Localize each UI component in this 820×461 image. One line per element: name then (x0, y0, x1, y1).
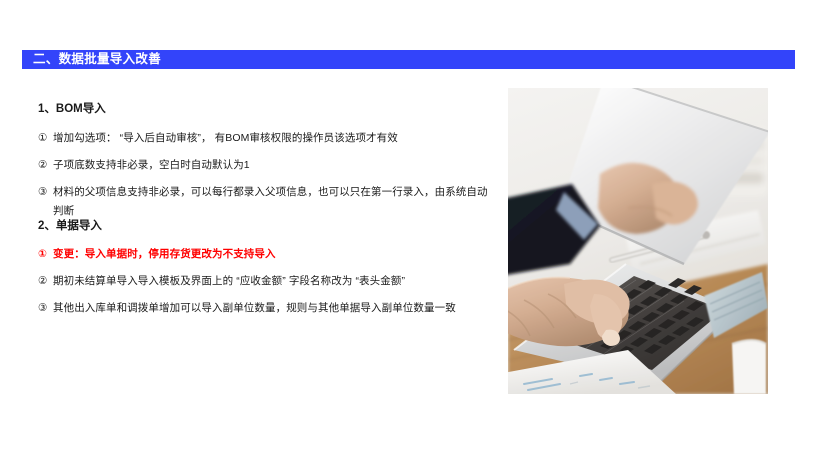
bullet-text: 材料的父项信息支持非必录，可以每行都录入父项信息，也可以只在第一行录入，由系统自… (53, 183, 493, 221)
bullet-marker-icon: ① (38, 245, 53, 264)
bullet-marker-icon: ① (38, 129, 53, 148)
bullet-text: 期初未结算单导入导入模板及界面上的 “应收金额” 字段名称改为 “表头金额” (53, 272, 493, 291)
slide-body-text-column: 1、BOM导入 ① 增加勾选项： “导入后自动审核”， 有BOM审核权限的操作员… (38, 104, 493, 318)
section-document-import: 2、单据导入 ① 变更：导入单据时，停用存货更改为不支持导入 ② 期初未结算单导… (38, 221, 493, 319)
section-heading-2: 2、单据导入 (38, 221, 493, 233)
section-header-band: 二、数据批量导入改善 (22, 50, 795, 69)
section-heading-1: 1、BOM导入 (38, 104, 493, 116)
presentation-slide: 二、数据批量导入改善 1、BOM导入 ① 增加勾选项： “导入后自动审核”， 有… (0, 0, 820, 461)
bullet-text: 其他出入库单和调拨单增加可以导入副单位数量，规则与其他单据导入副单位数量一致 (53, 299, 493, 318)
bullet-marker-icon: ② (38, 272, 53, 291)
list-item: ② 期初未结算单导入导入模板及界面上的 “应收金额” 字段名称改为 “表头金额” (38, 272, 493, 291)
list-item-alert: ① 变更：导入单据时，停用存货更改为不支持导入 (38, 245, 493, 264)
bullet-list-2: ① 变更：导入单据时，停用存货更改为不支持导入 ② 期初未结算单导入导入模板及界… (38, 245, 493, 318)
page-title: 二、数据批量导入改善 (22, 53, 161, 66)
list-item: ③ 其他出入库单和调拨单增加可以导入副单位数量，规则与其他单据导入副单位数量一致 (38, 299, 493, 318)
bullet-marker-icon: ③ (38, 299, 53, 318)
bullet-text-alert: 变更：导入单据时，停用存货更改为不支持导入 (53, 245, 493, 264)
bullet-marker-icon: ② (38, 156, 53, 175)
bullet-text: 子项底数支持非必录，空白时自动默认为1 (53, 156, 493, 175)
section-bom-import: 1、BOM导入 ① 增加勾选项： “导入后自动审核”， 有BOM审核权限的操作员… (38, 104, 493, 221)
bullet-text: 增加勾选项： “导入后自动审核”， 有BOM审核权限的操作员该选项才有效 (53, 129, 493, 148)
list-item: ③ 材料的父项信息支持非必录，可以每行都录入父项信息，也可以只在第一行录入，由系… (38, 183, 493, 221)
bullet-marker-icon: ③ (38, 183, 53, 202)
list-item: ① 增加勾选项： “导入后自动审核”， 有BOM审核权限的操作员该选项才有效 (38, 129, 493, 148)
hands-typing-on-laptop-photo (508, 88, 768, 394)
bullet-list-1: ① 增加勾选项： “导入后自动审核”， 有BOM审核权限的操作员该选项才有效 ②… (38, 129, 493, 221)
list-item: ② 子项底数支持非必录，空白时自动默认为1 (38, 156, 493, 175)
